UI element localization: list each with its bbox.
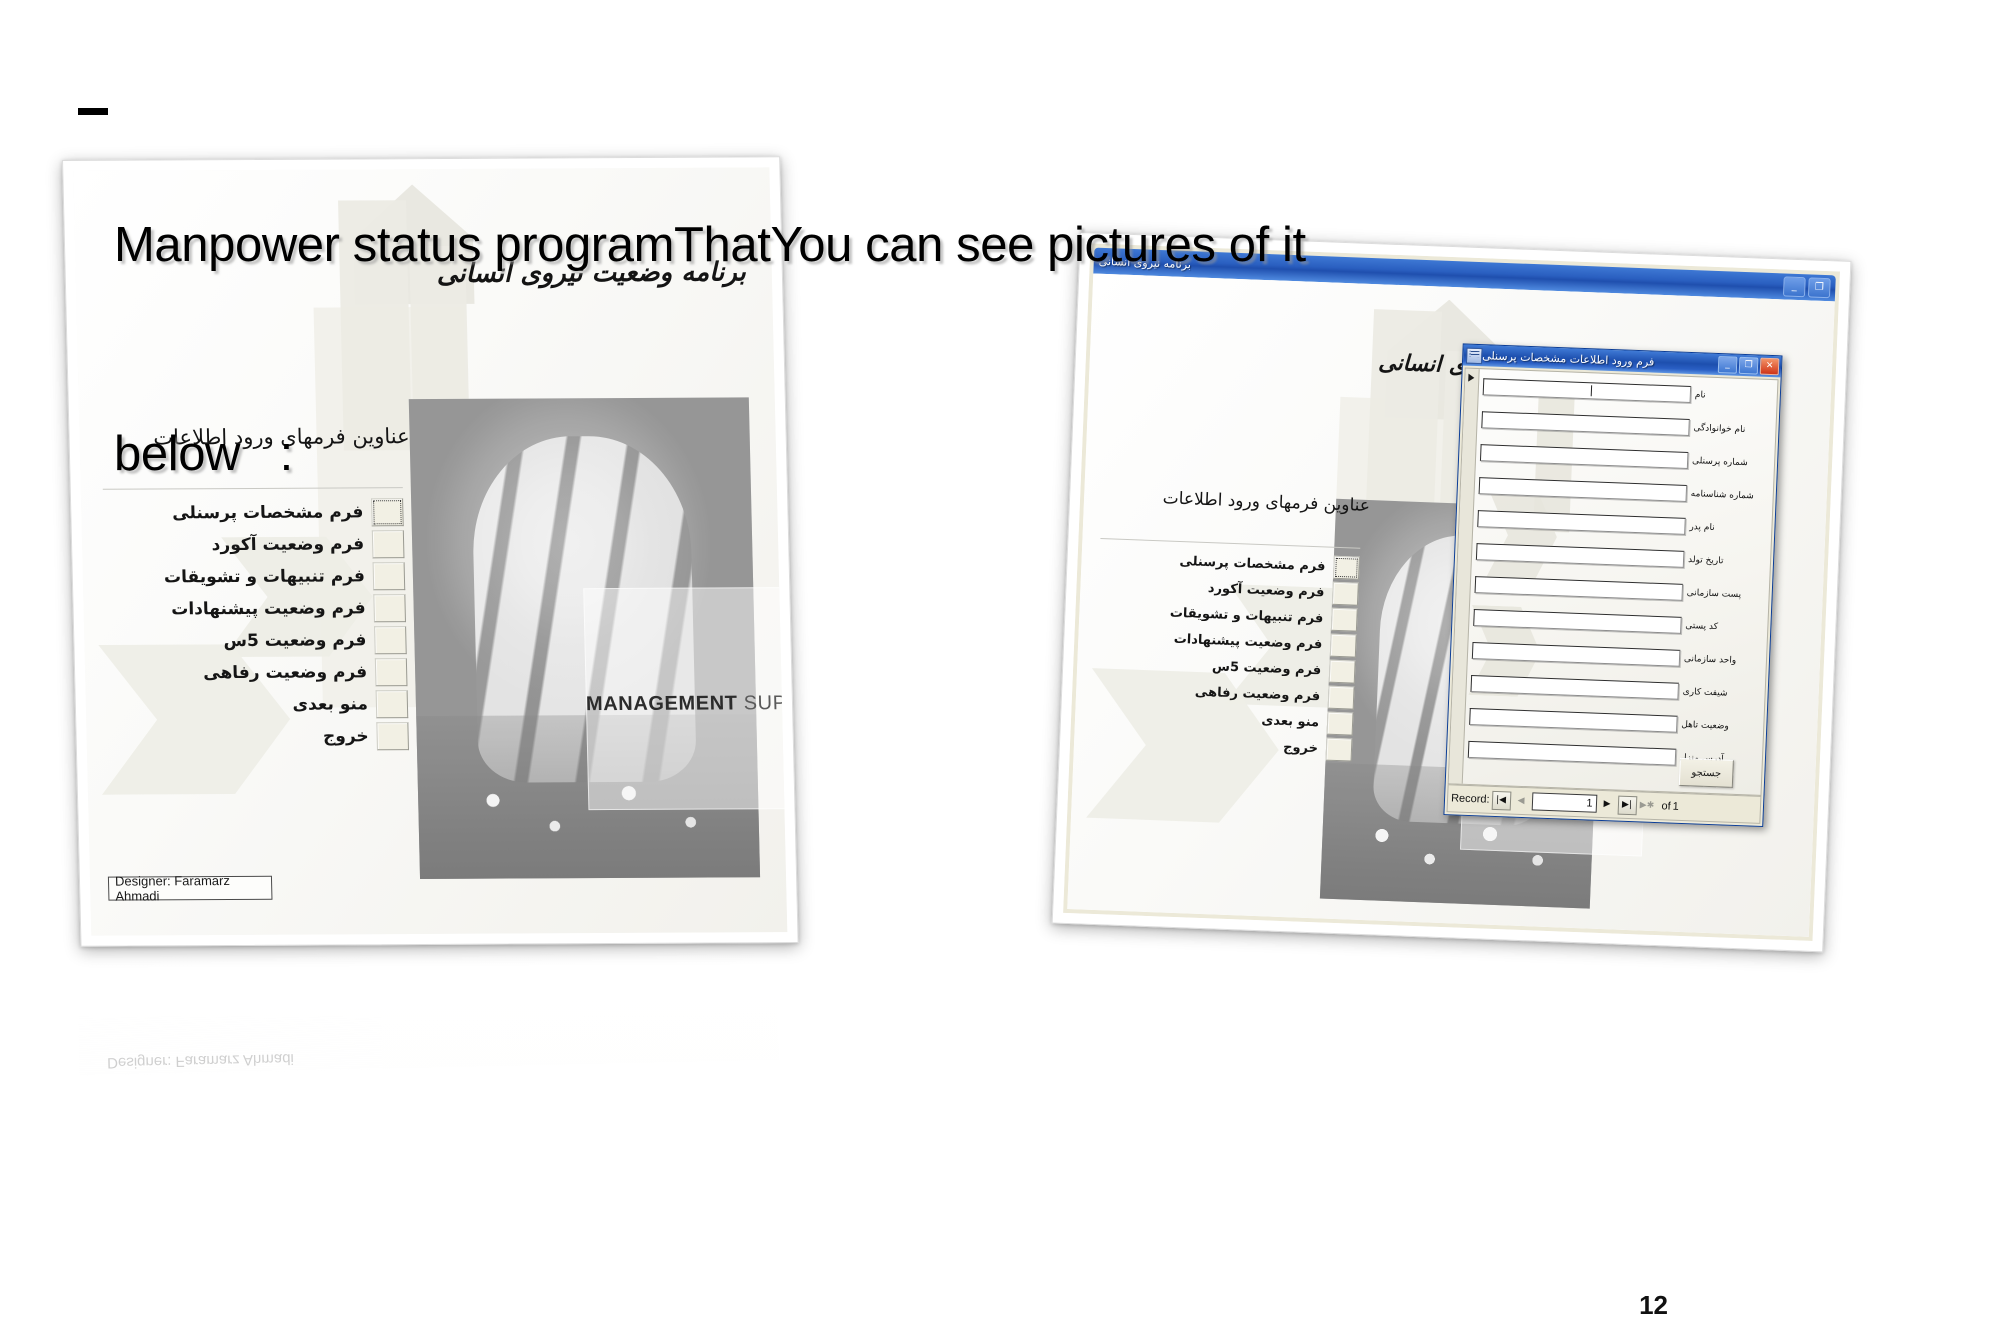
- forms-menu-list: فرم مشخصات پرسنلیفرم وضعيت آكوردفرم تنبي…: [1092, 548, 1360, 766]
- forms-menu-item-label: خروج: [323, 726, 369, 746]
- forms-menu-item[interactable]: فرم تنبيهات و تشويقات: [1097, 600, 1358, 631]
- forms-menu-item-button[interactable]: [1326, 738, 1353, 762]
- forms-menu-item-label: خروج: [1283, 740, 1318, 756]
- form-field-label: كد پستی: [1681, 620, 1759, 633]
- minimize-button[interactable]: _: [1783, 276, 1806, 297]
- forms-menu-item[interactable]: منو بعدی: [108, 691, 409, 719]
- forms-menu-item-button[interactable]: [1330, 634, 1357, 658]
- form-field-label: وضعيت تاهل: [1677, 719, 1755, 732]
- forms-menu-item[interactable]: فرم وضعيت رفاهی: [107, 659, 408, 687]
- forms-menu-item-label: فرم وضعيت 5س: [1212, 659, 1322, 678]
- access-window-controls: _ ❐: [1783, 276, 1831, 298]
- forms-menu-item[interactable]: فرم وضعيت رفاهی: [1094, 678, 1355, 709]
- current-record-input[interactable]: 1: [1531, 792, 1597, 812]
- forms-menu-item-button[interactable]: [375, 658, 408, 686]
- page-title: Manpower status programThatYou can see p…: [78, 72, 1778, 559]
- minimize-icon: _: [1792, 282, 1797, 292]
- last-record-button[interactable]: ▶|: [1617, 795, 1637, 815]
- form-field-input[interactable]: [1468, 741, 1677, 766]
- restore-icon: ❐: [1815, 283, 1824, 293]
- forms-menu-item[interactable]: فرم تنبيهات و تشويقات: [105, 563, 406, 591]
- previous-record-button[interactable]: ◀: [1512, 792, 1530, 810]
- designer-credit-text: Designer: Faramarz Ahmadi: [115, 873, 266, 904]
- designer-credit-box: Designer: Faramarz Ahmadi: [108, 876, 273, 901]
- record-of-label: of: [1661, 800, 1671, 812]
- forms-menu-item[interactable]: فرم وضعيت 5س: [1095, 652, 1356, 683]
- title-line-2: below :: [78, 420, 1778, 490]
- forms-menu-item-label: فرم وضعيت 5س: [223, 630, 366, 651]
- forms-menu-item-label: فرم تنبيهات و تشويقات: [164, 566, 365, 587]
- forms-menu-item-label: فرم تنبيهات و تشويقات: [1170, 606, 1324, 627]
- restore-button[interactable]: ❐: [1808, 277, 1831, 298]
- first-record-button[interactable]: |◀: [1491, 790, 1511, 810]
- forms-menu-item[interactable]: فرم وضعيت آكورد: [1098, 574, 1359, 605]
- form-field-label: واحد سازمانی: [1680, 653, 1758, 666]
- record-label: Record:: [1451, 792, 1490, 805]
- forms-menu-item-label: فرم وضعيت رفاهی: [203, 662, 367, 683]
- forms-menu-item-label: فرم وضعيت پيشنهادات: [171, 598, 366, 619]
- forms-menu-item-button[interactable]: [1333, 556, 1360, 580]
- forms-menu-item-button[interactable]: [1327, 712, 1354, 736]
- forms-menu-item-label: فرم وضعيت آكورد: [1208, 581, 1325, 600]
- forms-menu-item-button[interactable]: [1328, 686, 1355, 710]
- forms-menu-item-button[interactable]: [1332, 582, 1359, 606]
- record-total: 1: [1672, 801, 1679, 813]
- forms-menu-item-label: منو بعدی: [1261, 713, 1319, 730]
- forms-menu-item[interactable]: فرم وضعيت پيشنهادات: [1096, 626, 1357, 657]
- forms-menu-item-button[interactable]: [373, 594, 406, 622]
- management-support-wordmark: MANAGEMENT SUPPORT: [586, 692, 788, 716]
- form-field-label: شيفت كاری: [1678, 686, 1756, 699]
- form-field-row: پست سازمانی: [1474, 575, 1761, 605]
- next-record-button[interactable]: ▶: [1598, 795, 1616, 813]
- title-line-1: Manpower status programThatYou can see p…: [78, 211, 1778, 281]
- form-field-row: شيفت كاری: [1470, 674, 1757, 704]
- new-record-button[interactable]: ▶✱: [1638, 797, 1656, 815]
- forms-menu-item-button[interactable]: [1329, 660, 1356, 684]
- forms-menu-item-button[interactable]: [373, 562, 406, 590]
- forms-menu-item-button[interactable]: [374, 626, 407, 654]
- forms-menu-item[interactable]: فرم وضعيت 5س: [106, 627, 407, 655]
- form-field-input[interactable]: [1469, 708, 1678, 733]
- form-field-input[interactable]: [1475, 576, 1684, 601]
- slide-page-number: 12: [1639, 1290, 1668, 1321]
- wordmark-bold: MANAGEMENT: [586, 692, 738, 715]
- reflection-designer-text: Designer: Faramarz Ahmadi: [107, 1050, 294, 1071]
- forms-menu-item-button[interactable]: [1331, 608, 1358, 632]
- form-field-label: پست سازمانی: [1683, 587, 1761, 600]
- forms-menu-item[interactable]: فرم وضعيت پيشنهادات: [105, 595, 406, 623]
- wordmark-light: SUPPORT: [743, 692, 787, 715]
- forms-menu-item[interactable]: خروج: [1092, 730, 1353, 761]
- forms-menu-item[interactable]: خروج: [108, 723, 409, 751]
- title-bullet-dash: [78, 108, 108, 115]
- search-button[interactable]: جستجو: [1679, 758, 1734, 788]
- forms-menu-item-label: منو بعدی: [292, 694, 368, 714]
- forms-menu-item-label: فرم وضعيت پيشنهادات: [1173, 632, 1322, 653]
- form-field-row: وضعيت تاهل: [1469, 707, 1756, 737]
- forms-menu-item[interactable]: منو بعدی: [1093, 704, 1354, 735]
- forms-menu-item-button[interactable]: [376, 722, 409, 750]
- forms-menu-item-label: فرم وضعيت رفاهی: [1195, 685, 1321, 705]
- screenshot-left-reflection: Designer: Faramarz Ahmadi: [77, 940, 780, 1076]
- forms-menu-item-button[interactable]: [376, 690, 409, 718]
